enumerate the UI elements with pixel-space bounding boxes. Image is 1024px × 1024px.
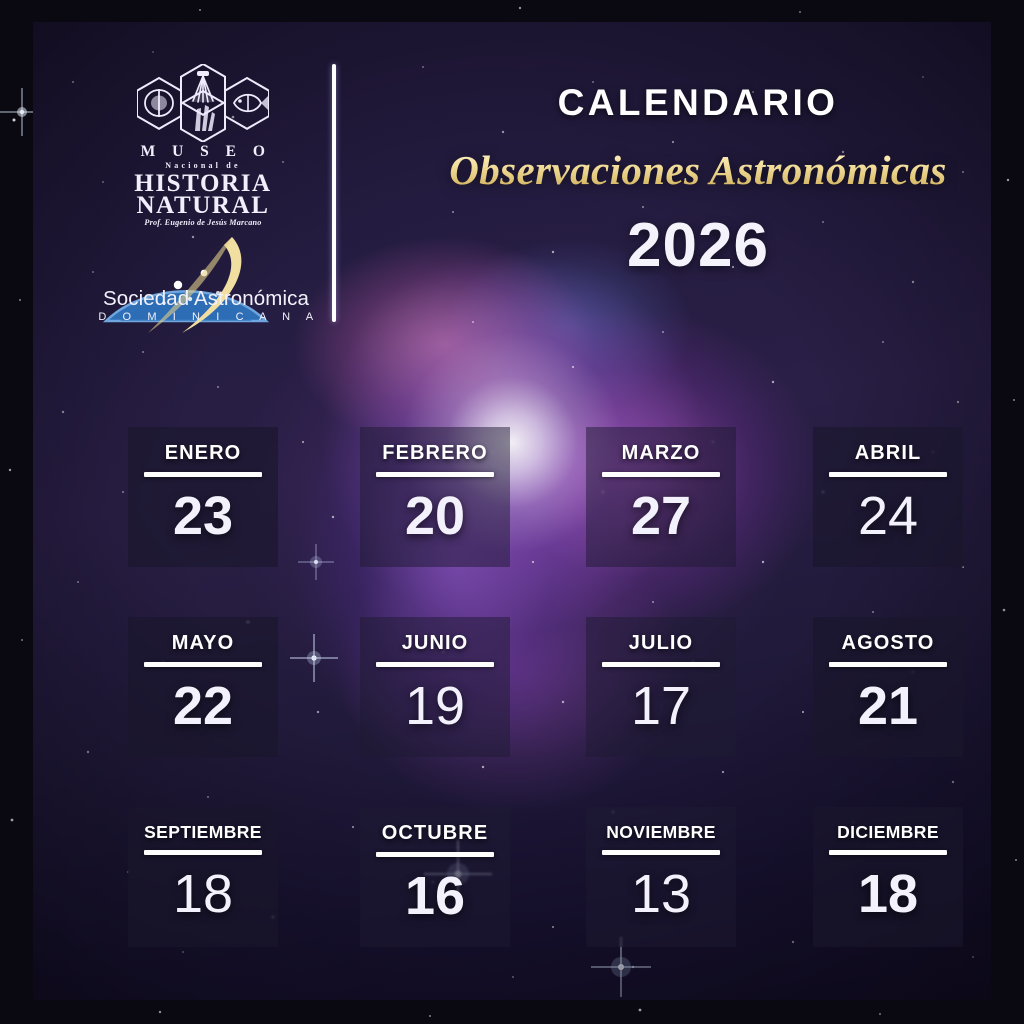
month-day: 13 [631, 867, 691, 921]
month-card-julio[interactable]: JULIO 17 [586, 617, 736, 757]
month-name: NOVIEMBRE [606, 822, 716, 843]
month-rule [144, 662, 262, 667]
month-day: 16 [405, 869, 465, 923]
month-name: MARZO [622, 442, 701, 465]
month-name: OCTUBRE [382, 822, 489, 845]
month-rule [602, 850, 720, 855]
month-name: MAYO [172, 632, 235, 655]
month-rule [144, 850, 262, 855]
month-card-noviembre[interactable]: NOVIEMBRE 13 [586, 807, 736, 947]
month-grid: ENERO 23 FEBRERO 20 MARZO 27 ABRIL [95, 405, 991, 975]
month-name: JULIO [629, 632, 693, 655]
month-name: AGOSTO [842, 632, 935, 655]
museum-line-nacional: Nacional de [98, 162, 308, 170]
month-card-marzo[interactable]: MARZO 27 [586, 427, 736, 567]
society-line-1: Sociedad Astronómica [86, 289, 326, 310]
fish-icon [225, 78, 269, 129]
month-card-agosto[interactable]: AGOSTO 21 [813, 617, 963, 757]
month-day: 27 [631, 489, 691, 543]
month-day: 20 [405, 489, 465, 543]
month-name: ENERO [165, 442, 242, 465]
month-name: JUNIO [402, 632, 469, 655]
month-card-junio[interactable]: JUNIO 19 [360, 617, 510, 757]
society-line-2: D O M I N I C A N A [86, 312, 326, 323]
month-day: 24 [858, 489, 918, 543]
month-rule [376, 472, 494, 477]
astronomy-calendar-poster: M U S E O Nacional de HISTORIA NATURAL P… [0, 0, 1024, 1024]
month-name: FEBRERO [382, 442, 487, 465]
month-card-abril[interactable]: ABRIL 24 [813, 427, 963, 567]
shell-fan-icon [181, 64, 225, 115]
month-rule [602, 472, 720, 477]
month-rule [602, 662, 720, 667]
conch-snail-icon [137, 78, 181, 129]
month-day: 22 [173, 679, 233, 733]
month-row-2: MAYO 22 JUNIO 19 JULIO 17 AGOSTO [95, 595, 991, 785]
month-card-diciembre[interactable]: DICIEMBRE 18 [813, 807, 963, 947]
museum-line-prof: Prof. Eugenio de Jesús Marcano [98, 219, 308, 227]
header-titles: CALENDARIO Observaciones Astronómicas 20… [363, 82, 991, 281]
museum-line-museo: M U S E O [98, 144, 308, 160]
month-day: 18 [173, 867, 233, 921]
month-day: 19 [405, 679, 465, 733]
month-day: 23 [173, 489, 233, 543]
month-rule [829, 662, 947, 667]
month-rule [829, 850, 947, 855]
society-wordmark: Sociedad Astronómica D O M I N I C A N A [86, 289, 326, 323]
page-subtitle: Observaciones Astronómicas [363, 146, 991, 194]
museum-hex-icons [137, 64, 269, 142]
month-card-septiembre[interactable]: SEPTIEMBRE 18 [128, 807, 278, 947]
month-card-febrero[interactable]: FEBRERO 20 [360, 427, 510, 567]
month-day: 18 [858, 867, 918, 921]
month-rule [144, 472, 262, 477]
calendar-year: 2026 [363, 210, 991, 281]
month-row-3: SEPTIEMBRE 18 OCTUBRE 16 NOVIEMBRE 13 DI… [95, 785, 991, 975]
page-title: CALENDARIO [363, 82, 991, 124]
society-dome-swoosh-icon [86, 229, 326, 339]
month-name: DICIEMBRE [837, 822, 939, 843]
month-rule [376, 662, 494, 667]
month-card-mayo[interactable]: MAYO 22 [128, 617, 278, 757]
month-card-octubre[interactable]: OCTUBRE 16 [360, 807, 510, 947]
month-day: 21 [858, 679, 918, 733]
header-vertical-divider [332, 64, 336, 322]
museum-logo: M U S E O Nacional de HISTORIA NATURAL P… [98, 64, 308, 227]
month-row-1: ENERO 23 FEBRERO 20 MARZO 27 ABRIL [95, 405, 991, 595]
society-logo: Sociedad Astronómica D O M I N I C A N A [86, 229, 326, 339]
nebula-background-panel: M U S E O Nacional de HISTORIA NATURAL P… [33, 22, 991, 1000]
month-name: SEPTIEMBRE [144, 822, 262, 843]
museum-line-natural: NATURAL [98, 193, 308, 218]
month-card-enero[interactable]: ENERO 23 [128, 427, 278, 567]
month-rule [376, 852, 494, 857]
museum-wordmark: M U S E O Nacional de HISTORIA NATURAL P… [98, 144, 308, 227]
logos-block: M U S E O Nacional de HISTORIA NATURAL P… [78, 44, 328, 334]
month-rule [829, 472, 947, 477]
month-day: 17 [631, 679, 691, 733]
month-name: ABRIL [855, 442, 922, 465]
